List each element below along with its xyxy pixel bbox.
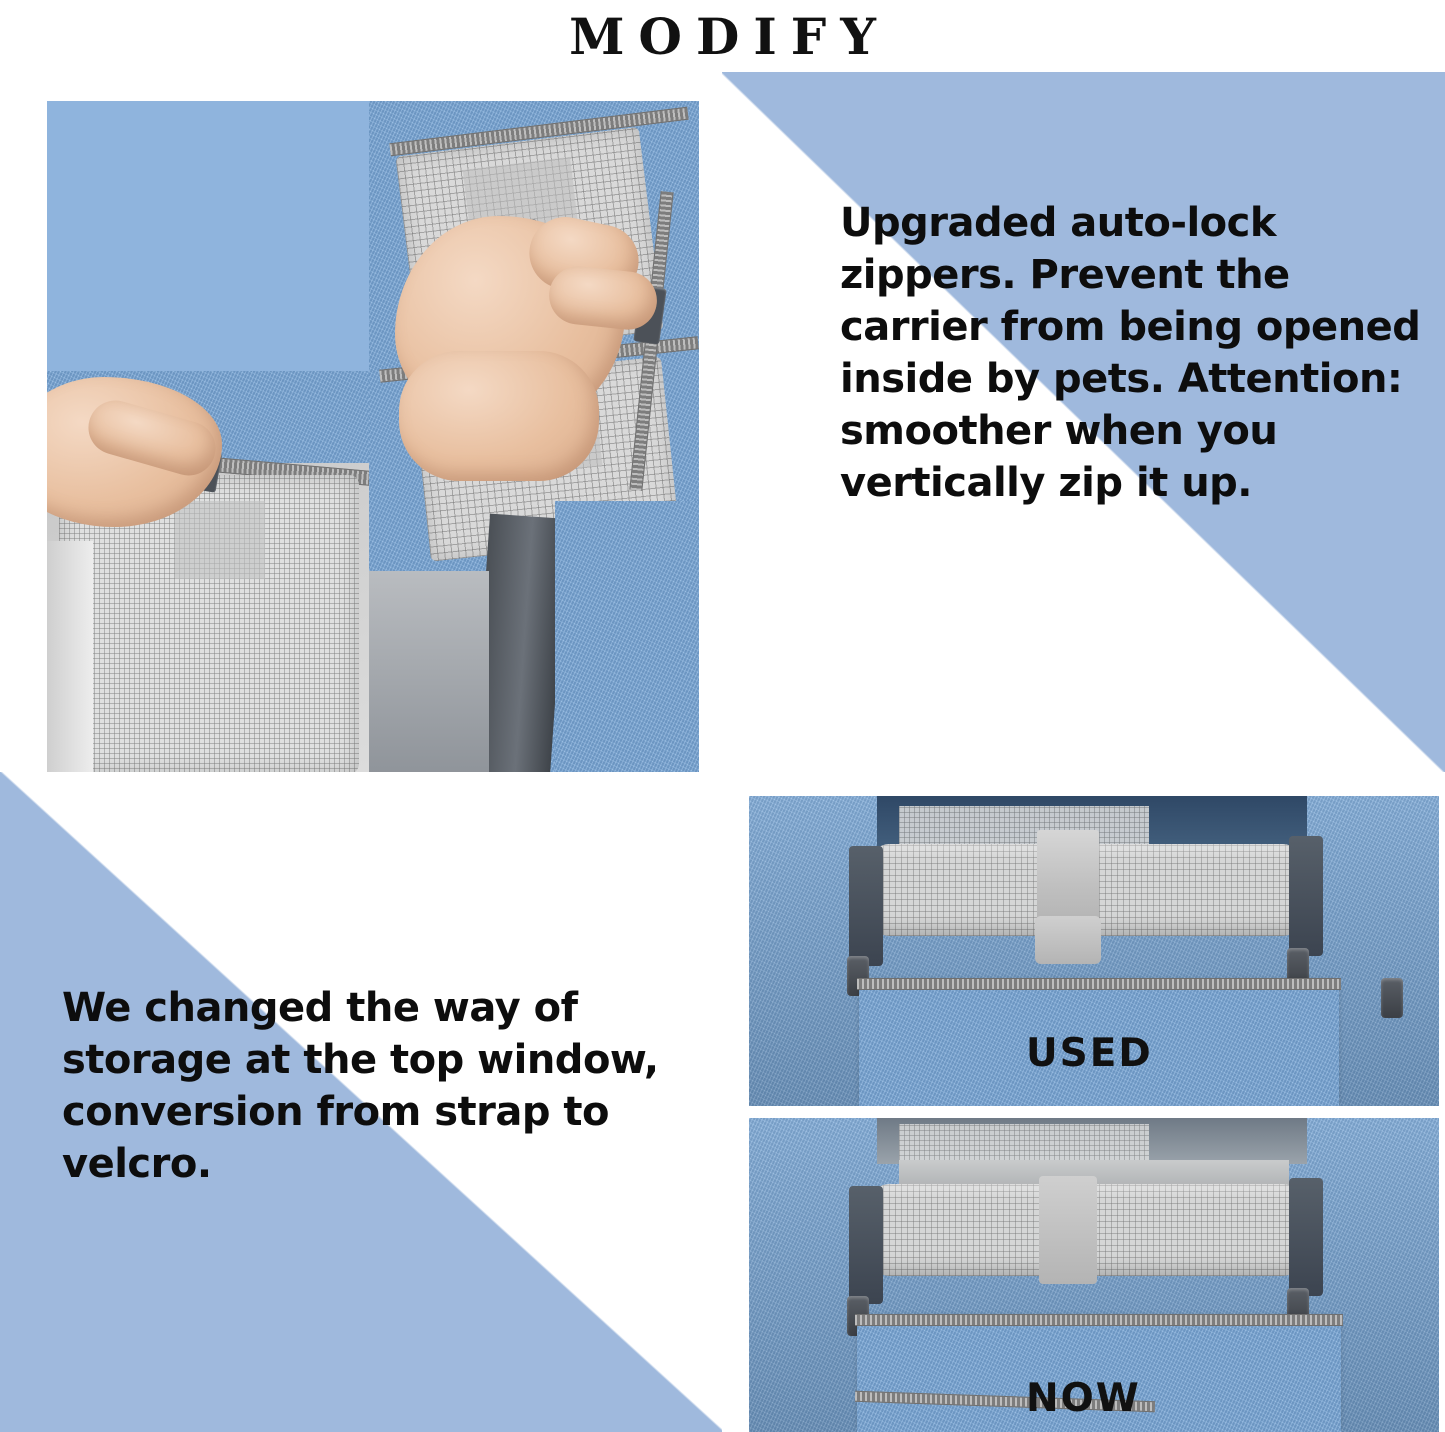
storage-text-panel: We changed the way of storage at the top… — [0, 772, 723, 1432]
label-used: USED — [1026, 1031, 1153, 1076]
zipper-photo-panel — [0, 72, 722, 772]
photo-hand-zipping-vertical — [369, 101, 699, 772]
modify-infographic-page: MODIFY — [0, 0, 1445, 1432]
photo-hand-pulling-zipper — [47, 371, 369, 772]
velcro-band — [1039, 1176, 1097, 1284]
label-now: NOW — [1026, 1376, 1141, 1421]
storage-photo-panel: USED NOW — [722, 772, 1445, 1432]
photo-carrier-now: NOW — [749, 1118, 1439, 1432]
page-title: MODIFY — [0, 0, 1445, 72]
photo-carrier-used: USED — [749, 796, 1439, 1106]
storage-description-text: We changed the way of storage at the top… — [62, 982, 662, 1190]
zipper-description-text: Upgraded auto-lock zippers. Prevent the … — [840, 197, 1430, 509]
zipper-photo-composite — [47, 101, 699, 772]
zipper-text-panel: Upgraded auto-lock zippers. Prevent the … — [722, 72, 1445, 772]
